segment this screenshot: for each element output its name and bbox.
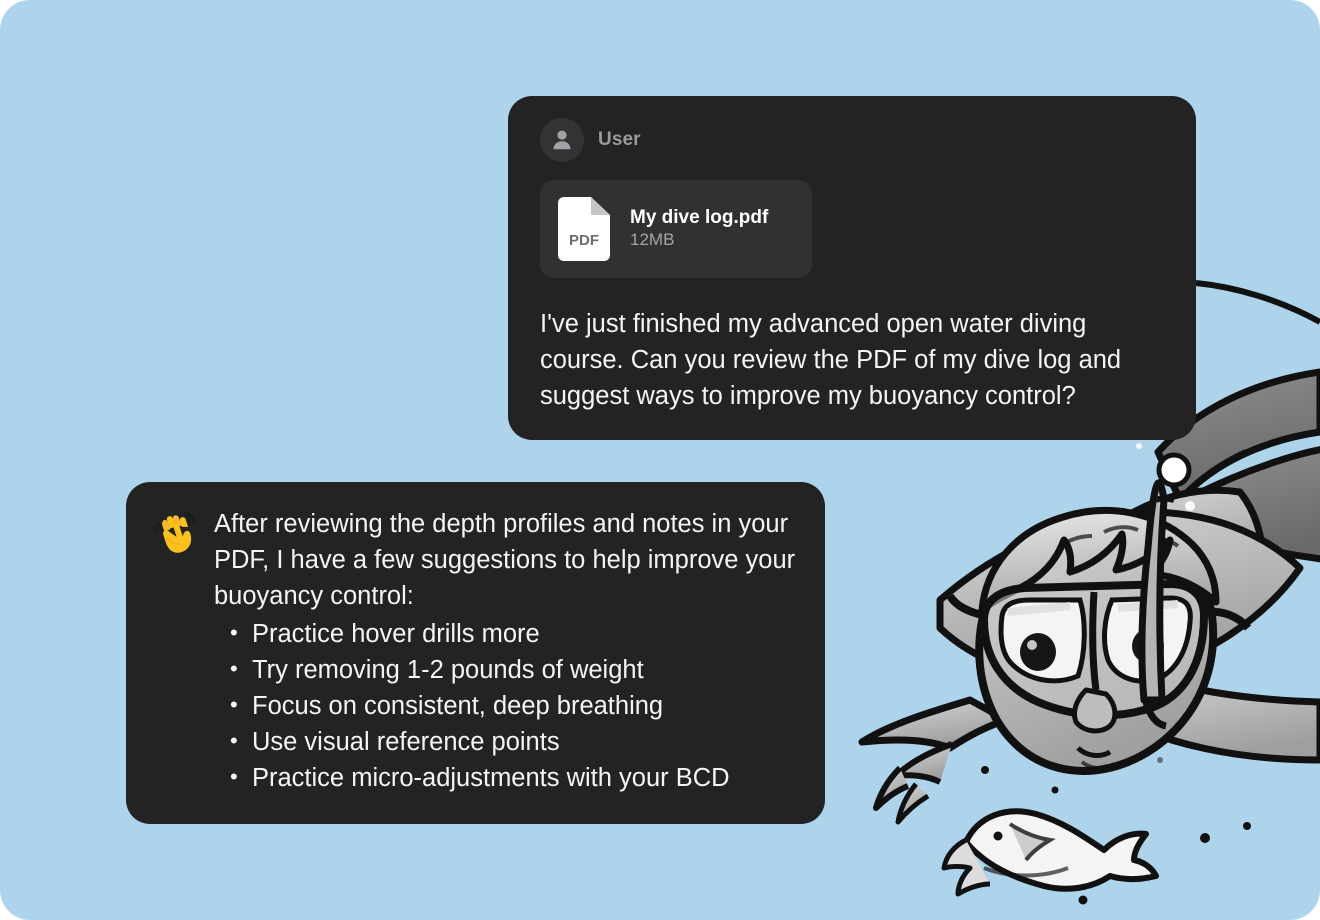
list-item: Try removing 1-2 pounds of weight bbox=[252, 652, 797, 688]
screenshot-canvas: User PDF My dive log.pdf 12MB I've just … bbox=[0, 0, 1320, 920]
pdf-file-icon: PDF bbox=[558, 197, 610, 261]
svg-text:PDF: PDF bbox=[569, 232, 599, 249]
message-author-name: User bbox=[598, 129, 641, 151]
person-icon bbox=[540, 118, 584, 162]
waving-hand-emoji bbox=[152, 509, 200, 557]
user-message-header: User bbox=[536, 118, 1168, 162]
list-item: Use visual reference points bbox=[252, 724, 797, 760]
list-item: Focus on consistent, deep breathing bbox=[252, 688, 797, 724]
assistant-message-bubble: After reviewing the depth profiles and n… bbox=[126, 482, 825, 824]
suggestions-list: Practice hover drills more Try removing … bbox=[214, 616, 797, 796]
list-item: Practice micro-adjustments with your BCD bbox=[252, 760, 797, 796]
assistant-intro-text: After reviewing the depth profiles and n… bbox=[214, 506, 797, 614]
fish bbox=[944, 811, 1156, 894]
file-attachment-card[interactable]: PDF My dive log.pdf 12MB bbox=[540, 180, 812, 278]
list-item: Practice hover drills more bbox=[252, 616, 797, 652]
user-message-text: I've just finished my advanced open wate… bbox=[536, 306, 1168, 414]
attachment-filename: My dive log.pdf bbox=[630, 207, 768, 228]
user-message-bubble: User PDF My dive log.pdf 12MB I've just … bbox=[508, 96, 1196, 440]
attachment-filesize: 12MB bbox=[630, 230, 674, 249]
